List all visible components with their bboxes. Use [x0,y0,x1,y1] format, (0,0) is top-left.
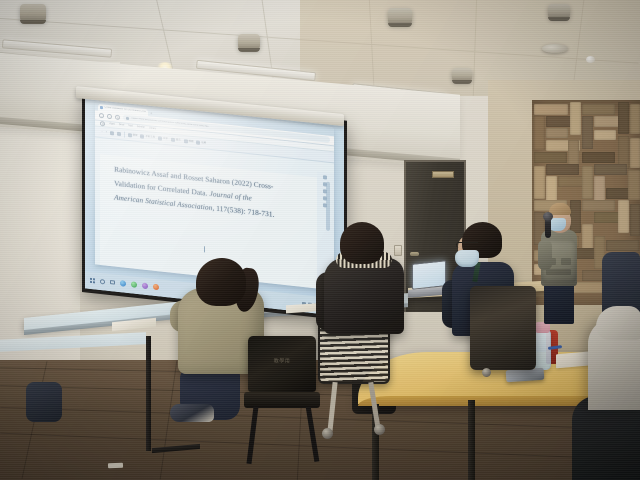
folding-chair-label: 教學用 [274,357,291,364]
attendee-striped-torso [324,258,404,334]
toolbar-button[interactable]: 選取 [128,133,138,138]
water-bottle [534,330,551,370]
favicon-icon [100,106,103,109]
attendee-khaki-hair [196,258,246,306]
new-tab-button[interactable]: + [150,109,152,116]
text-caret [204,246,205,252]
citation-text: Rabinowicz Assaf and Rosset Saharon (202… [100,154,317,227]
bag-left [26,382,62,422]
windows-start-icon[interactable] [90,278,95,284]
chair-caster [374,424,385,435]
toolbar-button[interactable]: 文字 [158,136,168,141]
bookmark-item[interactable]: Library [149,127,156,130]
chair-caster [322,428,333,439]
zoom-out-button[interactable]: − [101,131,102,134]
bookmark-item[interactable]: Drive [119,124,125,127]
cursor-icon [128,133,132,137]
search-icon[interactable] [100,279,105,285]
zoom-in-button[interactable]: + [106,131,107,134]
presenter-legs [544,282,574,324]
toolbar-button-label: 繪圖 [189,140,194,143]
undo-icon[interactable] [110,131,114,135]
toolbar-button-label: 註解 [201,142,206,145]
toolbar-button-label: 手形工具 [145,136,155,139]
redo-icon[interactable] [117,132,121,136]
door-handle-icon[interactable] [410,252,419,256]
citation-line-2-italic: Journal of the [210,189,252,203]
floor-outlet [108,463,123,469]
toolbar-button[interactable]: 標示 [171,137,181,142]
sprinkler-icon [586,56,595,63]
draw-icon [184,139,188,143]
lock-icon [126,117,129,120]
toolbar-button[interactable]: 手形工具 [140,134,155,140]
light-switch-icon[interactable] [394,245,402,256]
browser-icon[interactable] [120,280,126,287]
media-icon[interactable] [142,283,148,290]
hoodie-hood [596,306,640,340]
toolbar-button[interactable]: 註解 [196,140,206,145]
toolbar-divider [124,131,125,137]
downlight-icon [20,4,46,22]
smoke-detector-icon [542,44,568,53]
chair-caster [482,368,491,377]
reload-icon[interactable]: ↻ [115,114,120,120]
presenter-cap [549,203,571,215]
office-icon[interactable] [153,284,159,291]
photo-scene: Cross-Validation for Correlated Data + ‹… [0,0,640,480]
glasses-icon [456,242,478,248]
text-icon [158,136,162,140]
bookmark-item[interactable]: Scholar [137,126,145,129]
toolbar-button-label: 標示 [176,139,181,142]
toolbar-button-label: 文字 [163,137,168,140]
toolbar-button-label: 選取 [133,134,138,137]
downlight-icon [388,8,412,25]
face-mask-icon [455,250,479,267]
bookmark-item[interactable]: Mail [128,125,132,128]
messaging-icon[interactable] [131,282,137,289]
microphone-icon[interactable] [543,212,553,221]
laptop-screen [412,260,446,290]
document-scrollbar[interactable] [326,182,330,231]
sneaker [170,404,214,422]
attendee-striped-hair [340,222,384,264]
comment-icon [196,140,200,144]
highlight-icon [171,137,175,141]
forward-arrow-icon[interactable]: › [107,114,112,120]
back-arrow-icon[interactable]: ‹ [99,113,104,119]
downlight-icon [238,34,260,50]
bookmark-item[interactable]: Apps [109,123,114,126]
task-view-icon[interactable] [110,280,115,285]
toolbar-button[interactable]: 繪圖 [184,139,194,144]
table-leg [468,400,475,480]
downlight-icon [452,68,472,82]
downlight-icon [548,4,570,19]
search-icon[interactable]: ⚲ [100,121,105,127]
table-leg [146,336,151,451]
door-sign-icon [432,171,454,178]
panel-icon[interactable] [323,175,327,179]
leather-office-chair[interactable] [470,286,536,370]
presenter-arm [538,240,552,270]
hand-icon [140,134,144,138]
folding-chair[interactable]: 教學用 [248,336,316,392]
